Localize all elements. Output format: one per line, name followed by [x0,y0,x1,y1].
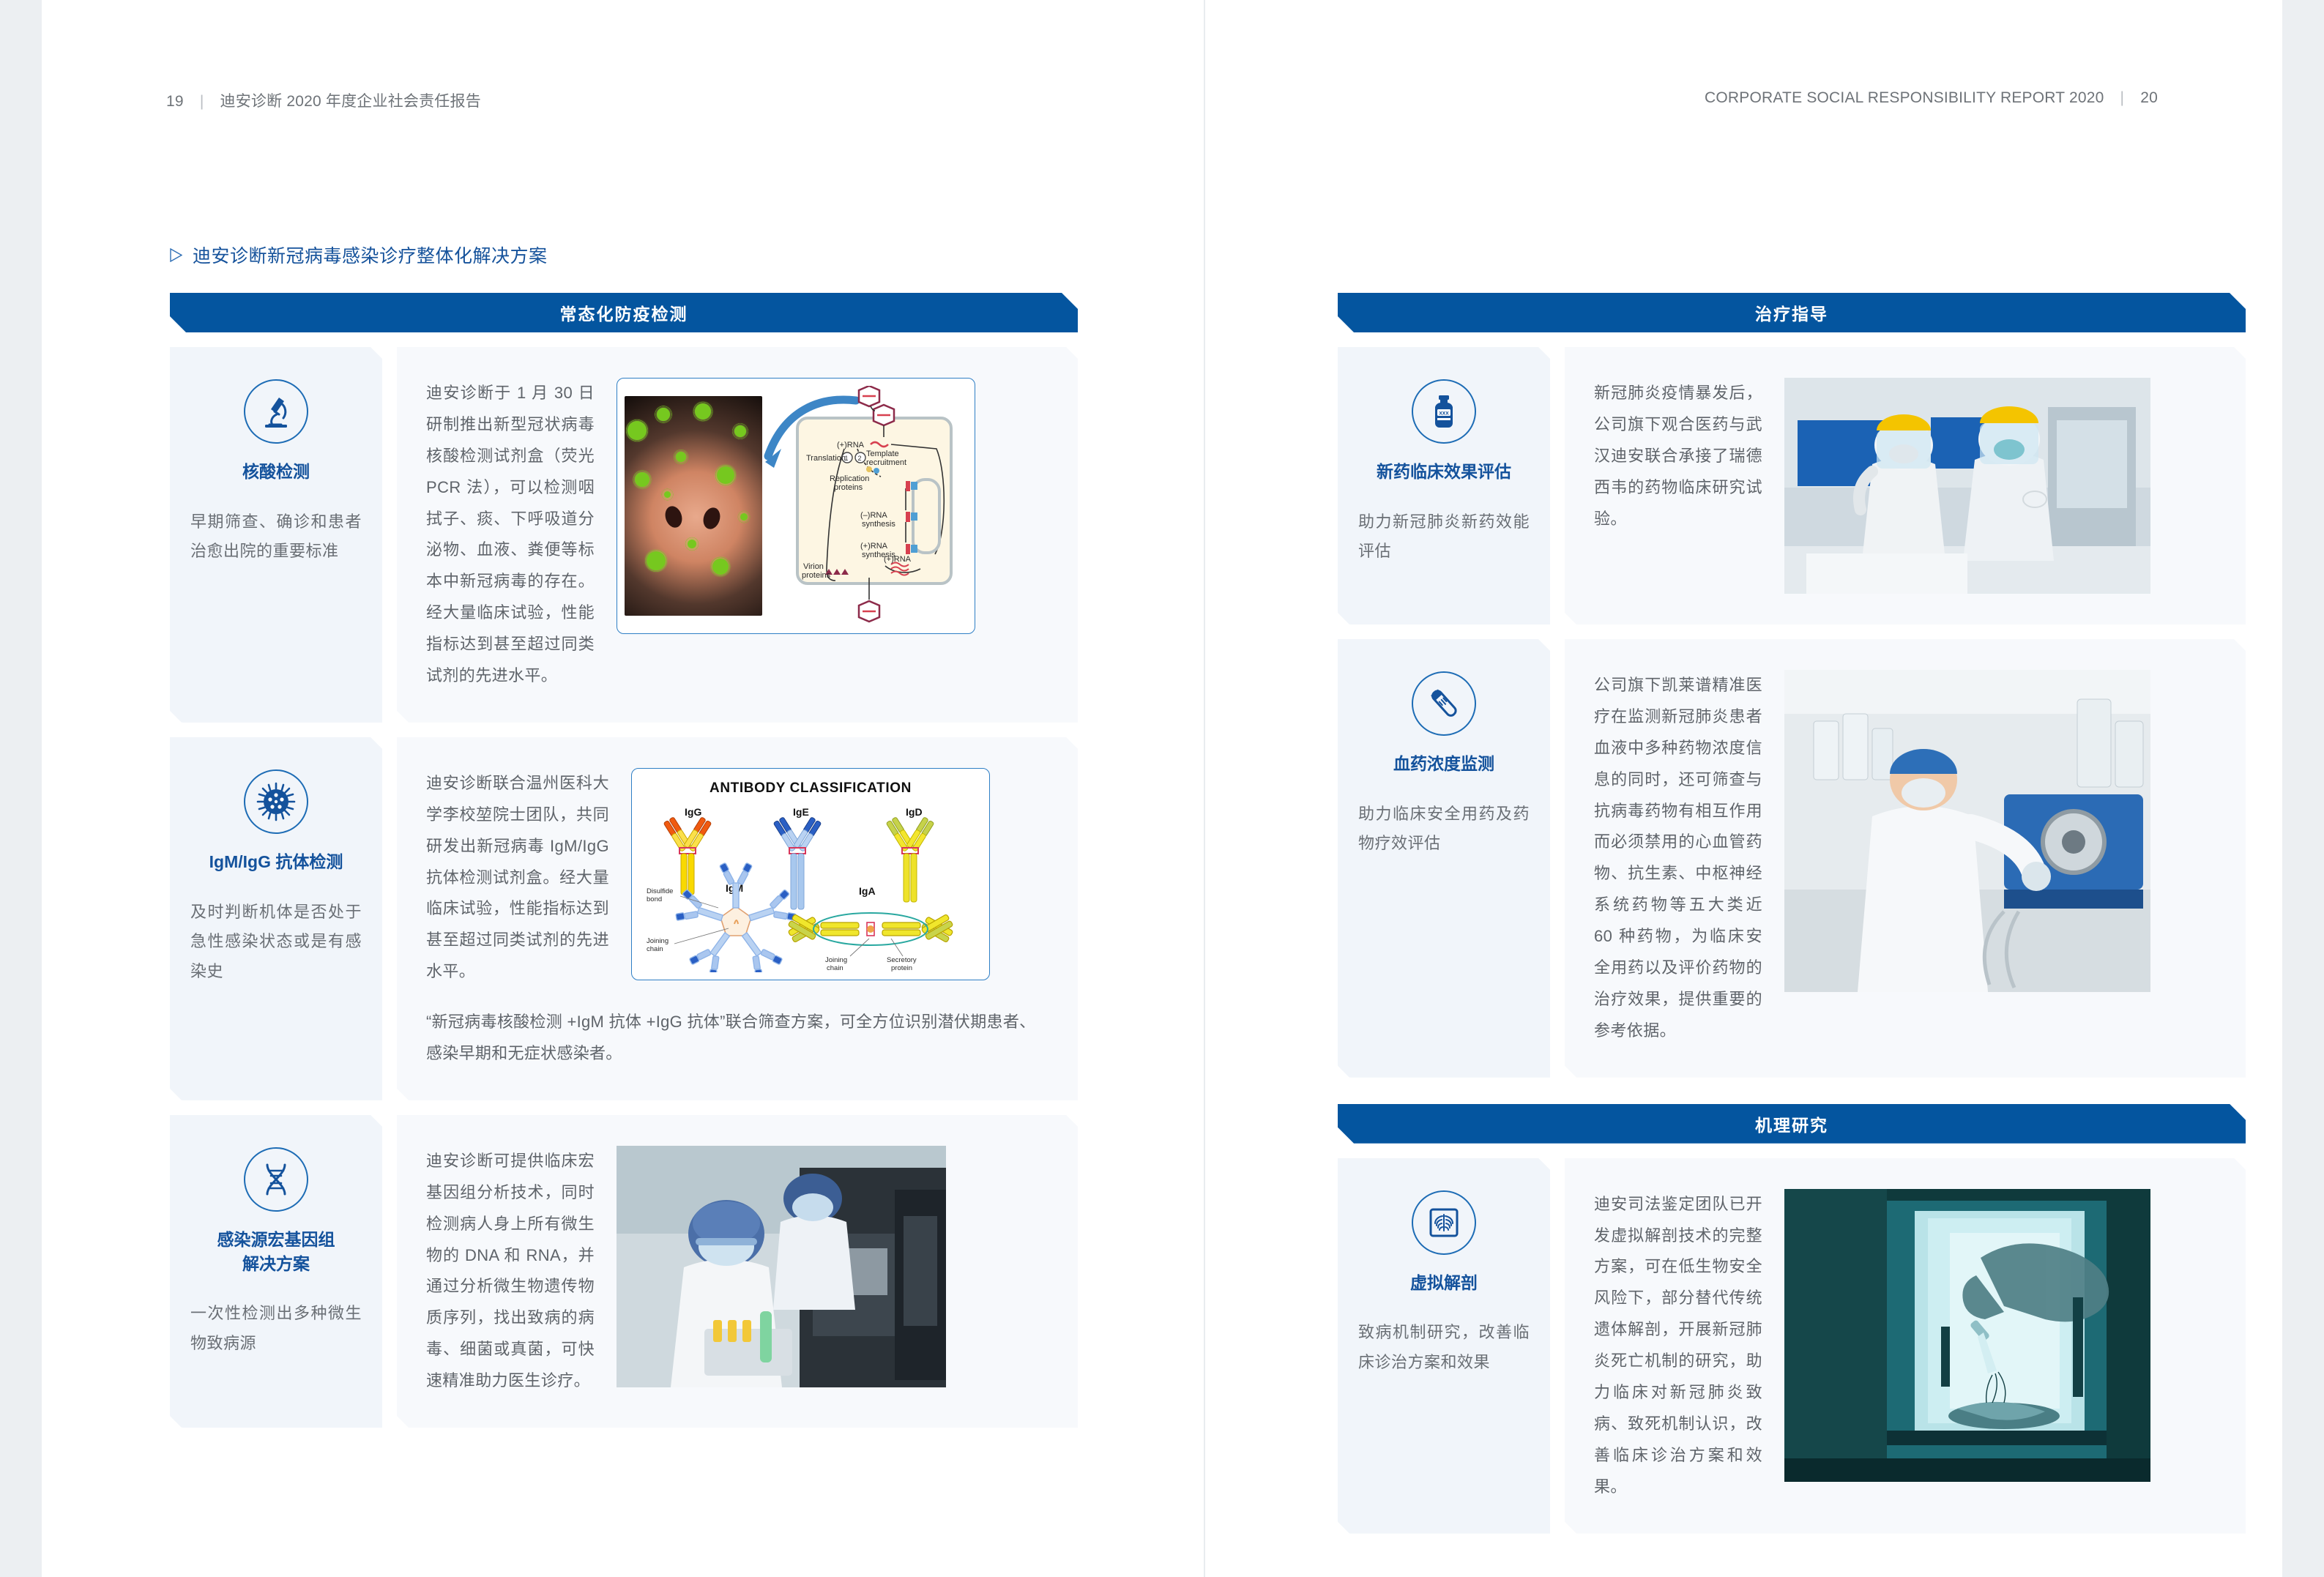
svg-text:(+)RNA: (+)RNA [860,542,888,551]
header-separator-left: | [200,93,204,111]
body-paragraph: 迪安诊断联合温州医科大学李校堃院士团队，共同研发出新冠病毒 IgM/IgG 抗体… [426,768,609,988]
body-paragraph: 公司旗下凯莱谱精准医疗在监测新冠肺炎患者血液中多种药物浓度信息的同时，还可筛查与… [1594,670,1762,1047]
svg-text:Disulfide: Disulfide [647,887,673,895]
triangle-right-icon [170,248,182,262]
icon-card-title-line2: 解决方案 [190,1252,362,1276]
svg-text:xxx: xxx [1439,410,1449,417]
card-row-nucleic-acid: 核酸检测 早期筛查、确诊和患者治愈出院的重要标准 迪安诊断于 1 月 30 日研… [170,347,1078,723]
icon-card-title-line1: 感染源宏基因组 [190,1228,362,1252]
icon-card-antibody[interactable]: IgM/IgG 抗体检测 及时判断机体是否处于急性感染状态或是有感染史 [170,737,382,1100]
icon-card-title: 虚拟解剖 [1358,1271,1530,1295]
svg-text:Joining: Joining [647,937,668,945]
icon-card-title: 感染源宏基因组 解决方案 [190,1228,362,1275]
replication-pathway-schematic: 1 2 (+)RNA Translation Template recruitm… [762,386,967,626]
report-page: 19 | 迪安诊断 2020 年度企业社会责任报告 CORPORATE SOCI… [42,0,2282,1577]
icon-card-title: IgM/IgG 抗体检测 [190,850,362,874]
antibody-classification-diagram: ANTIBODY CLASSIFICATION IgG [631,768,990,980]
svg-text:Secretory: Secretory [887,956,917,964]
header-title-right: CORPORATE SOCIAL RESPONSIBILITY REPORT 2… [1705,89,2104,106]
svg-text:proteins: proteins [834,483,863,492]
icon-card-drug-trial[interactable]: xxx 新药临床效果评估 助力新冠肺炎新药效能评估 [1338,347,1550,625]
body-card-metagenomics: 迪安诊断可提供临床宏基因组分析技术，同时检测病人身上所有微生物的 DNA 和 R… [397,1115,1078,1428]
sequencing-lab-photo [617,1146,946,1387]
icon-card-desc: 致病机制研究，改善临床诊治方案和效果 [1358,1318,1530,1377]
svg-text:IgE: IgE [793,806,809,818]
svg-text:recruitment: recruitment [866,458,906,467]
svg-text:Replication: Replication [830,474,869,483]
virus-microscopy-photo [625,396,762,616]
body-card-blood-drug-monitoring: 公司旗下凯莱谱精准医疗在监测新冠肺炎患者血液中多种药物浓度信息的同时，还可筛查与… [1565,639,2246,1078]
svg-text:IgA: IgA [859,885,876,897]
icon-card-blood-drug-monitoring[interactable]: 血药浓度监测 助力临床安全用药及药物疗效评估 [1338,639,1550,1078]
antibody-combined-screening-note: “新冠病毒核酸检测 +IgM 抗体 +IgG 抗体”联合筛查方案，可全方位识别潜… [426,1007,1049,1070]
card-row-drug-trial: xxx 新药临床效果评估 助力新冠肺炎新药效能评估 新冠肺炎疫情暴发后，公司旗下… [1338,347,2246,625]
page-number-left: 19 [166,93,184,110]
blood-analysis-lab-photo [1784,670,2150,992]
body-card-nucleic-acid: 迪安诊断于 1 月 30 日研制推出新型冠状病毒核酸检测试剂盒（荧光 PCR 法… [397,347,1078,723]
coronavirus-replication-diagram: 1 2 (+)RNA Translation Template recruitm… [617,378,975,634]
icon-card-metagenomics[interactable]: 感染源宏基因组 解决方案 一次性检测出多种微生物致病源 [170,1115,382,1428]
body-paragraph: 迪安诊断于 1 月 30 日研制推出新型冠状病毒核酸检测试剂盒（荧光 PCR 法… [426,378,595,692]
section-heading: 迪安诊断新冠病毒感染诊疗整体化解决方案 [170,242,548,268]
page-number-right: 20 [2140,89,2158,106]
svg-text:Template: Template [866,450,899,458]
svg-text:Virion: Virion [803,562,824,571]
svg-text:2: 2 [858,455,862,462]
antibody-diagram-title: ANTIBODY CLASSIFICATION [642,780,979,797]
card-row-virtual-autopsy: 虚拟解剖 致病机制研究，改善临床诊治方案和效果 迪安司法鉴定团队已开发虚拟解剖技… [1338,1158,2246,1534]
right-column: 治疗指导 xxx 新药临床效果评估 [1338,293,2246,1534]
body-paragraph: 迪安司法鉴定团队已开发虚拟解剖技术的完整方案，可在低生物安全风险下，部分替代传统… [1594,1189,1762,1503]
body-card-drug-trial: 新冠肺炎疫情暴发后，公司旗下观合医药与武汉迪安联合承接了瑞德西韦的药物临床研究试… [1565,347,2246,625]
svg-text:synthesis: synthesis [862,520,895,529]
icon-card-title: 新药临床效果评估 [1358,460,1530,484]
body-card-virtual-autopsy: 迪安司法鉴定团队已开发虚拟解剖技术的完整方案，可在低生物安全风险下，部分替代传统… [1565,1158,2246,1534]
virus-icon [244,769,308,834]
header-title-left: 迪安诊断 2020 年度企业社会责任报告 [220,93,481,110]
icon-card-title: 核酸检测 [190,460,362,484]
icon-card-desc: 一次性检测出多种微生物致病源 [190,1299,362,1358]
header-left: 19 | 迪安诊断 2020 年度企业社会责任报告 [166,89,481,111]
svg-text:chain: chain [827,964,843,972]
svg-text:chain: chain [647,945,663,953]
icon-card-desc: 及时判断机体是否处于急性感染状态或是有感染史 [190,898,362,987]
card-row-blood-drug-monitoring: 血药浓度监测 助力临床安全用药及药物疗效评估 公司旗下凯莱谱精准医疗在监测新冠肺… [1338,639,2246,1078]
icon-card-title: 血药浓度监测 [1358,752,1530,776]
vaccine-bottle-icon: xxx [1412,379,1476,444]
svg-text:bond: bond [647,895,662,903]
svg-text:IgD: IgD [906,806,923,818]
section-title-text: 迪安诊断新冠病毒感染诊疗整体化解决方案 [193,242,548,268]
left-column: 常态化防疫检测 核酸检测 早期筛查、确诊和患者治愈出院的重要标准 [170,293,1078,1428]
header-right: CORPORATE SOCIAL RESPONSIBILITY REPORT 2… [1705,89,2158,107]
dna-icon [244,1147,308,1212]
icon-card-desc: 助力临床安全用药及药物疗效评估 [1358,799,1530,859]
banner-treatment-guidance: 治疗指导 [1338,293,2246,332]
svg-text:proteins: proteins [802,571,831,580]
svg-text:(+)RNA: (+)RNA [884,555,912,564]
card-row-metagenomics: 感染源宏基因组 解决方案 一次性检测出多种微生物致病源 迪安诊断可提供临床宏基因… [170,1115,1078,1428]
icon-card-nucleic-acid[interactable]: 核酸检测 早期筛查、确诊和患者治愈出院的重要标准 [170,347,382,723]
svg-text:Joining: Joining [825,956,847,964]
icon-card-desc: 助力新冠肺炎新药效能评估 [1358,507,1530,567]
icon-card-desc: 早期筛查、确诊和患者治愈出院的重要标准 [190,507,362,567]
test-tube-icon [1412,671,1476,736]
svg-text:(–)RNA: (–)RNA [860,511,887,520]
header-separator-right: | [2120,89,2125,107]
svg-text:Translation: Translation [806,454,846,463]
chest-xray-icon [1412,1190,1476,1255]
page-spine-divider [1204,0,1205,1577]
banner-routine-detection: 常态化防疫检测 [170,293,1078,332]
icon-card-virtual-autopsy[interactable]: 虚拟解剖 致病机制研究，改善临床诊治方案和效果 [1338,1158,1550,1534]
svg-text:protein: protein [891,964,912,972]
svg-text:(+)RNA: (+)RNA [837,441,865,450]
body-paragraph: 迪安诊断可提供临床宏基因组分析技术，同时检测病人身上所有微生物的 DNA 和 R… [426,1146,595,1397]
body-card-antibody: 迪安诊断联合温州医科大学李校堃院士团队，共同研发出新冠病毒 IgM/IgG 抗体… [397,737,1078,1100]
banner-mechanism-research: 机理研究 [1338,1104,2246,1144]
card-row-antibody: IgM/IgG 抗体检测 及时判断机体是否处于急性感染状态或是有感染史 迪安诊断… [170,737,1078,1100]
virtual-autopsy-photo [1784,1189,2150,1482]
lab-workers-ppe-photo [1784,378,2150,594]
svg-text:IgG: IgG [685,806,701,818]
body-paragraph: 新冠肺炎疫情暴发后，公司旗下观合医药与武汉迪安联合承接了瑞德西韦的药物临床研究试… [1594,378,1762,534]
microscope-icon [244,379,308,444]
